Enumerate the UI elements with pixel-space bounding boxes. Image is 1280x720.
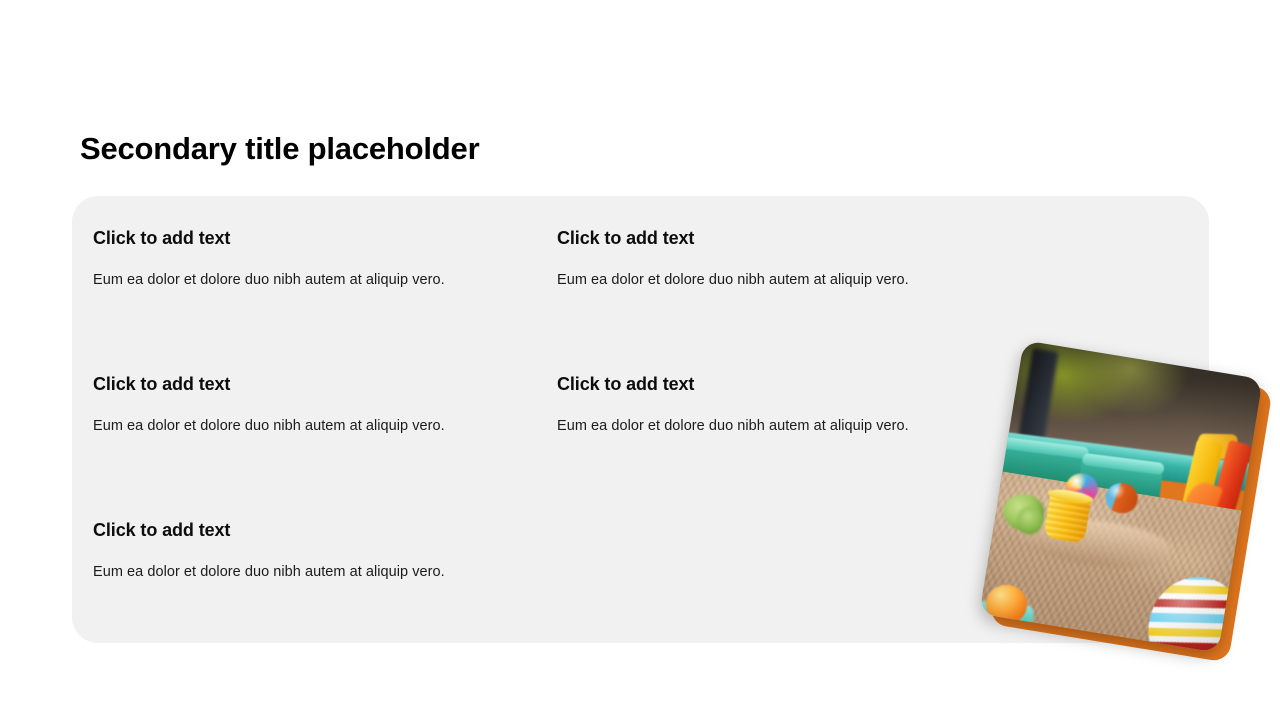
text-block-body[interactable]: Eum ea dolor et dolore duo nibh autem at… (93, 270, 557, 290)
text-block-heading[interactable]: Click to add text (93, 226, 557, 250)
text-block-grid: Click to add text Eum ea dolor et dolore… (93, 226, 1093, 664)
photo-group (996, 354, 1266, 660)
text-block-heading[interactable]: Click to add text (93, 372, 557, 396)
text-block-body[interactable]: Eum ea dolor et dolore duo nibh autem at… (557, 270, 1021, 290)
text-block[interactable]: Click to add text Eum ea dolor et dolore… (93, 518, 557, 664)
sandbox-photo-image (979, 340, 1263, 652)
page-title[interactable]: Secondary title placeholder (80, 129, 980, 169)
text-block-heading[interactable]: Click to add text (557, 372, 1021, 396)
text-block[interactable]: Click to add text Eum ea dolor et dolore… (557, 372, 1021, 518)
text-block-heading[interactable]: Click to add text (557, 226, 1021, 250)
sandbox-photo[interactable] (979, 340, 1263, 652)
text-block-heading[interactable]: Click to add text (93, 518, 557, 542)
slide-canvas: Secondary title placeholder Click to add… (0, 0, 1280, 720)
text-block[interactable]: Click to add text Eum ea dolor et dolore… (557, 226, 1021, 372)
text-block[interactable]: Click to add text Eum ea dolor et dolore… (93, 226, 557, 372)
text-block[interactable]: Click to add text Eum ea dolor et dolore… (93, 372, 557, 518)
text-block-body[interactable]: Eum ea dolor et dolore duo nibh autem at… (93, 416, 557, 436)
text-block-body[interactable]: Eum ea dolor et dolore duo nibh autem at… (557, 416, 1021, 436)
text-block-body[interactable]: Eum ea dolor et dolore duo nibh autem at… (93, 562, 557, 582)
